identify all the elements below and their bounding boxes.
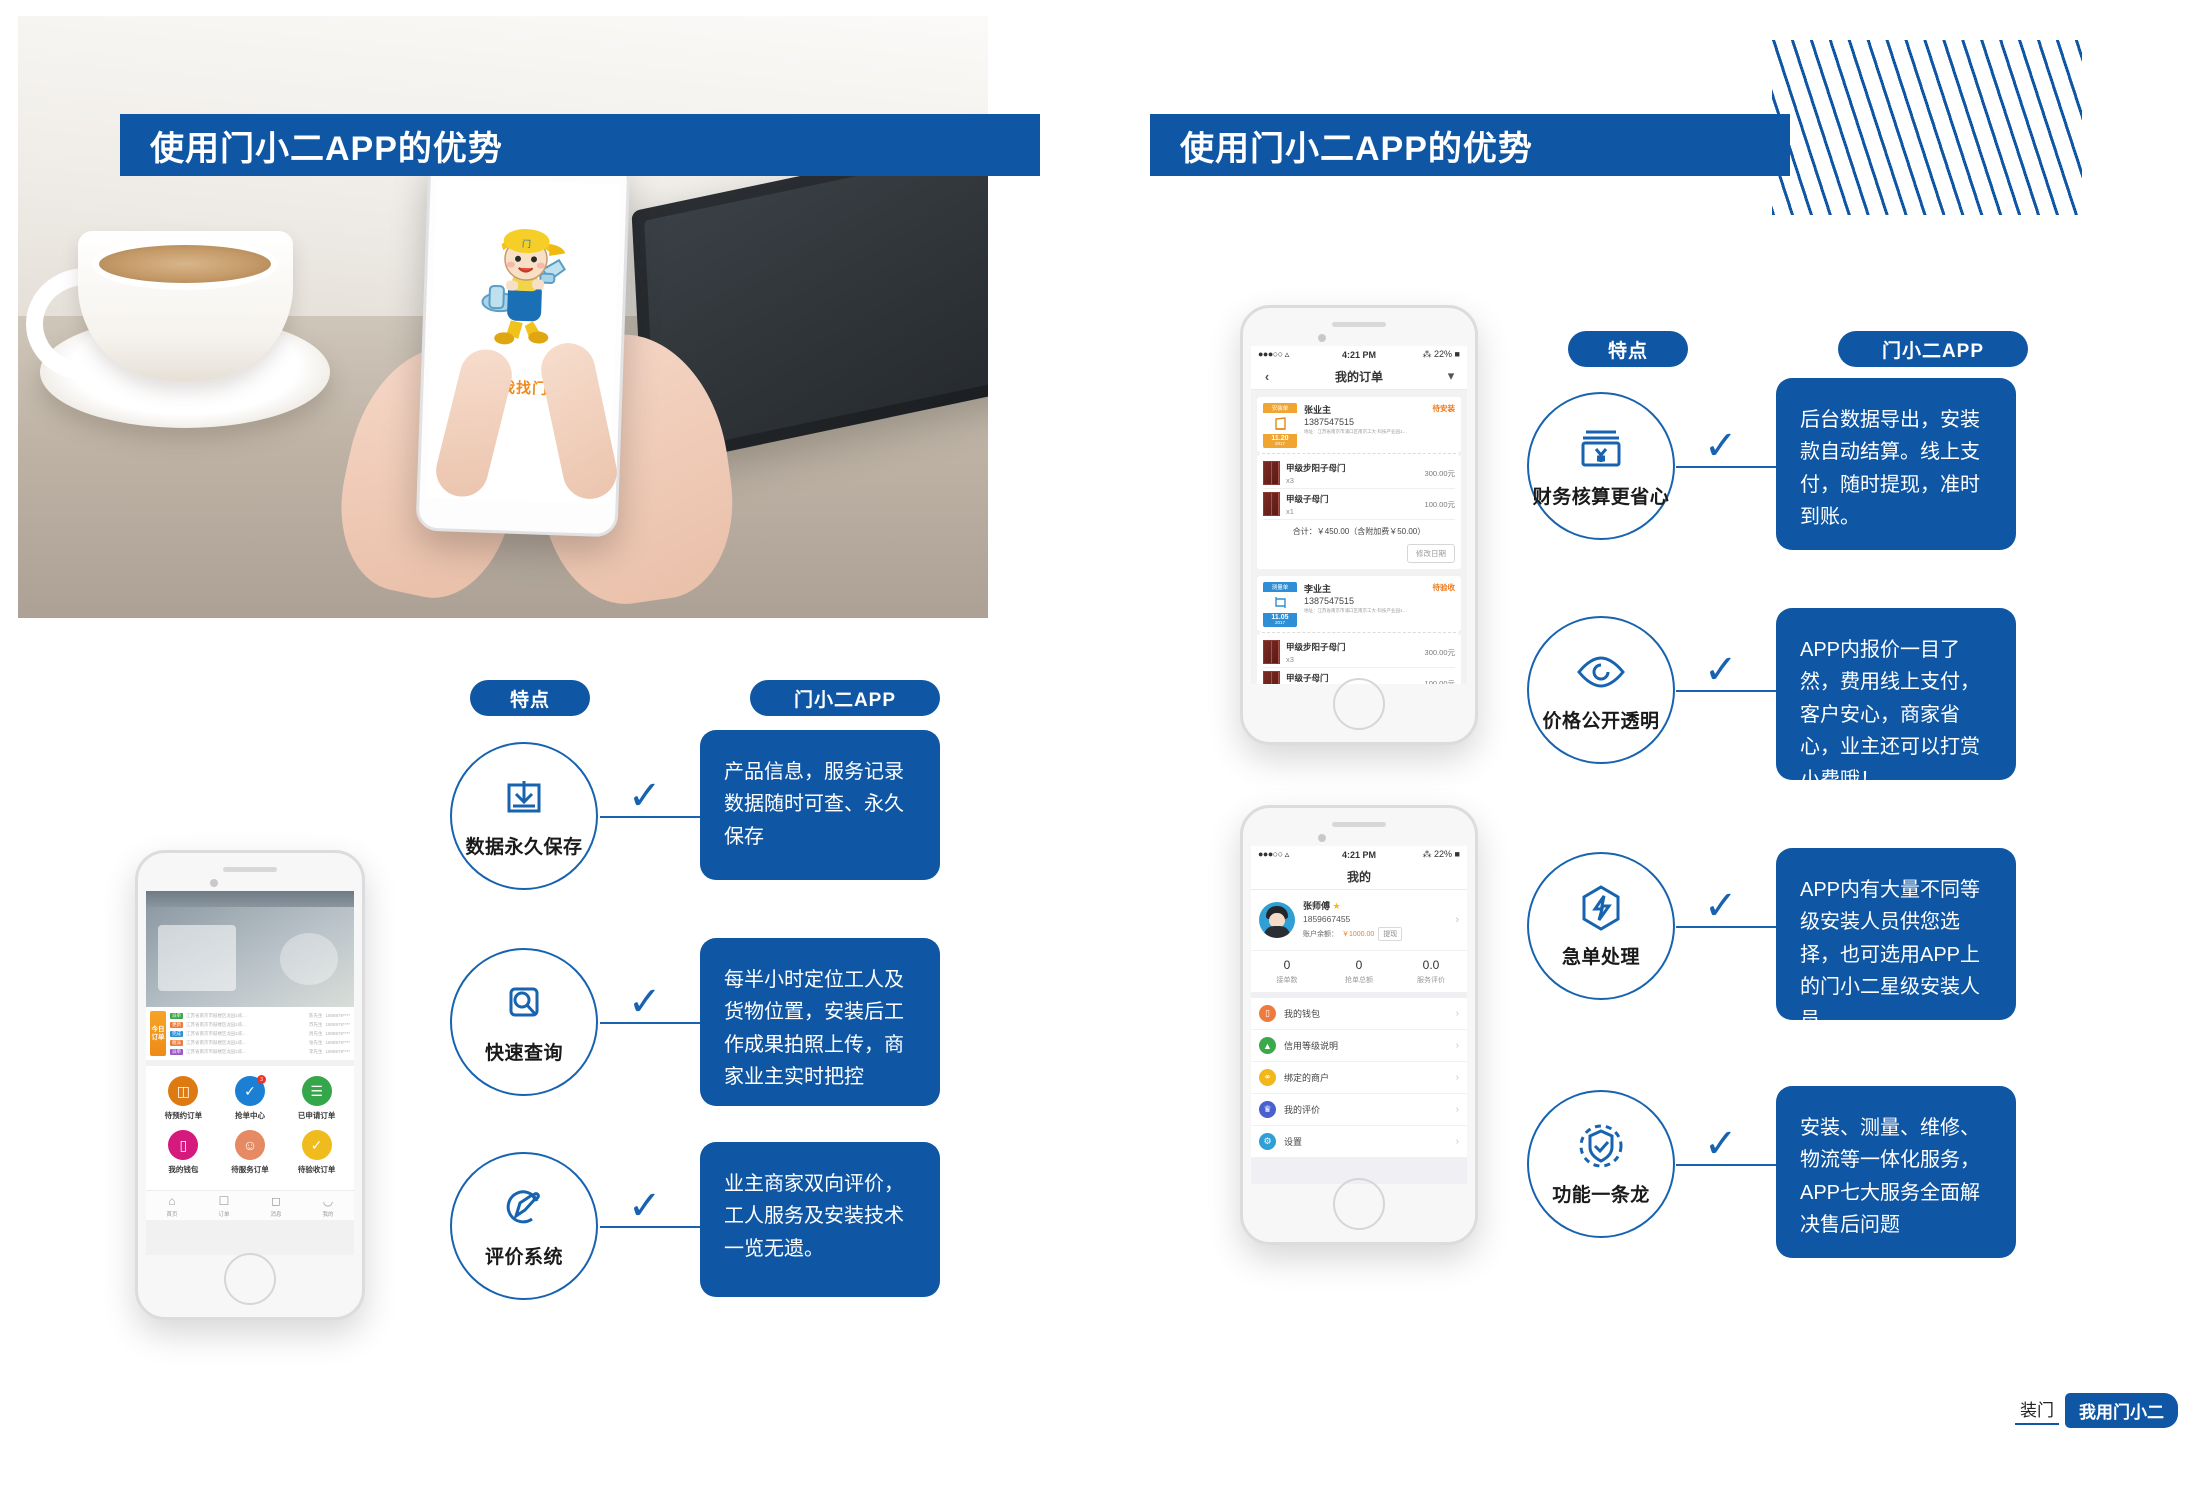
order-phone: 1808979**** bbox=[325, 1049, 350, 1054]
speaker-grille bbox=[1332, 822, 1386, 827]
tab-label: 订单 bbox=[198, 1210, 250, 1218]
feature-circle-label: 数据永久保存 bbox=[465, 832, 582, 859]
stat-value: 0 bbox=[1323, 958, 1395, 972]
product-thumbnail bbox=[1263, 492, 1280, 516]
battery-icon: ■ bbox=[1455, 849, 1460, 859]
feature-text: 安装、测量、维修、物流等一体化服务，APP七大服务全面解决售后问题 bbox=[1800, 1117, 1980, 1236]
stat-item: 0 接单数 bbox=[1251, 958, 1323, 985]
feature-circle-finance[interactable]: 财务核算更省心 bbox=[1527, 392, 1675, 540]
hero-banner-image bbox=[146, 891, 354, 907]
home-button[interactable] bbox=[1333, 1178, 1385, 1230]
product-price: 100.00元 bbox=[1425, 499, 1455, 510]
check-mark-icon: ✓ bbox=[628, 1186, 662, 1226]
chevron-right-icon: › bbox=[1456, 1008, 1459, 1019]
feature-circle-label: 功能一条龙 bbox=[1552, 1180, 1650, 1207]
check-mark-icon: ✓ bbox=[628, 776, 662, 816]
withdraw-button[interactable]: 提现 bbox=[1378, 927, 1402, 941]
pencil-circle-icon bbox=[499, 1180, 549, 1236]
profile-icon: ◡ bbox=[302, 1195, 354, 1207]
left-badge-feature: 特点 bbox=[470, 680, 590, 716]
product-price: 300.00元 bbox=[1425, 647, 1455, 658]
order-card[interactable]: 测量单 11.05 2017 李业主 13875475 bbox=[1257, 576, 1461, 684]
product-price: 100.00元 bbox=[1425, 678, 1455, 684]
status-bar-right: ⁂ 22% ■ bbox=[1393, 849, 1460, 860]
chevron-right-icon: › bbox=[1455, 914, 1459, 926]
profile-navbar: 我的 bbox=[1251, 863, 1467, 890]
feature-text: APP内有大量不同等级安装人员供您选择，也可选用APP上的门小二星级安装人员 bbox=[1800, 879, 1980, 1031]
filter-icon[interactable]: ▾ bbox=[1443, 368, 1459, 384]
stat-label: 接单数 bbox=[1251, 975, 1323, 985]
feature-circle-label: 评价系统 bbox=[485, 1242, 563, 1269]
feature-circle-label: 价格公开透明 bbox=[1542, 706, 1659, 733]
profile-stats: 0 接单数 0 抢单总额 0.0 服务评价 bbox=[1251, 950, 1467, 993]
footer-brand-pill: 我用门小二 bbox=[2065, 1393, 2178, 1428]
stat-value: 0.0 bbox=[1395, 958, 1467, 972]
grid-label: 待验收订单 bbox=[283, 1164, 350, 1175]
balance-value: ￥1000.00 bbox=[1342, 929, 1374, 939]
product-qty: x1 bbox=[1286, 507, 1425, 516]
order-address: 江苏省南京市鼓楼区龙园1栋… bbox=[186, 1049, 306, 1055]
right-badge-app: 门小二APP bbox=[1838, 331, 2028, 367]
today-order-row[interactable]: 催派 江苏省南京市鼓楼区龙园1栋… 张先生 1808979**** bbox=[170, 1038, 350, 1047]
credit-level-icon: ▲ bbox=[1259, 1037, 1276, 1054]
order-type-badge: 安装单 11.20 2017 bbox=[1263, 403, 1297, 448]
product-name: 甲级子母门 bbox=[1286, 493, 1425, 505]
eye-icon bbox=[1574, 644, 1628, 700]
grid-label: 待预约订单 bbox=[150, 1110, 217, 1121]
promo-photo bbox=[146, 907, 354, 1007]
status-bar-left: ●●●○○ ▵ bbox=[1258, 849, 1325, 860]
product-name: 甲级步阳子母门 bbox=[1286, 641, 1425, 653]
today-orders-list: 派单 江苏省南京市鼓楼区龙园1栋… 陈先生 1808979**** 更新 江苏省… bbox=[166, 1011, 350, 1056]
status-bar-left: ●●●○○ ▵ bbox=[1258, 349, 1325, 360]
status-bar: ●●●○○ ▵ 4:21 PM ⁂ 22% ■ bbox=[1251, 346, 1467, 363]
order-address: 江苏省南京市鼓楼区龙园1栋… bbox=[186, 1040, 306, 1046]
order-line-item: 甲级步阳子母门 x3 300.00元 bbox=[1263, 637, 1455, 668]
wallet-icon: ▯ bbox=[1259, 1005, 1276, 1022]
check-mark-icon: ✓ bbox=[1704, 426, 1738, 466]
page-title-right-text: 使用门小二APP的优势 bbox=[1180, 121, 1533, 170]
grid-label: 我的钱包 bbox=[150, 1164, 217, 1175]
product-thumbnail bbox=[1263, 640, 1280, 664]
battery-percent: 22% bbox=[1434, 349, 1452, 359]
search-square-icon bbox=[499, 976, 549, 1032]
home-button[interactable] bbox=[224, 1253, 276, 1305]
feature-text-one-stop: 安装、测量、维修、物流等一体化服务，APP七大服务全面解决售后问题 bbox=[1776, 1086, 2016, 1258]
stat-item: 0 抢单总额 bbox=[1323, 958, 1395, 985]
order-address: 江苏省南京市鼓楼区龙园1栋… bbox=[186, 1022, 306, 1028]
shield-check-icon bbox=[1576, 1118, 1626, 1174]
product-thumbnail bbox=[1263, 671, 1280, 684]
order-tag: 更新 bbox=[170, 1022, 183, 1028]
balance-label: 账户余额： bbox=[1303, 929, 1338, 939]
order-customer: 李先生 bbox=[309, 1049, 323, 1055]
speaker-grille bbox=[223, 867, 277, 872]
product-qty: x3 bbox=[1286, 655, 1425, 664]
profile-user-row[interactable]: 张师傅 ★ 1859667455 账户余额： ￥1000.00 提现 › bbox=[1251, 890, 1467, 950]
order-phone: 1808979**** bbox=[325, 1031, 350, 1036]
feature-text: APP内报价一目了然，费用线上支付，客户安心，商家省心，业主还可以打赏小费哦！ bbox=[1800, 639, 1980, 791]
order-address: 地址：江苏省南京市浦口区南京工大·科技产业园1… bbox=[1304, 608, 1433, 614]
menu-item-my-reviews[interactable]: ♛ 我的评价 › bbox=[1251, 1094, 1467, 1126]
orders-navbar: ‹ 我的订单 ▾ bbox=[1251, 363, 1467, 390]
check-mark-icon: ✓ bbox=[1704, 1124, 1738, 1164]
check-mark-icon: ✓ bbox=[1704, 886, 1738, 926]
order-customer-info: 李业主 1387547515 地址：江苏省南京市浦口区南京工大·科技产业园1… bbox=[1297, 582, 1433, 627]
chevron-right-icon: › bbox=[1456, 1136, 1459, 1147]
stat-item: 0.0 服务评价 bbox=[1395, 958, 1467, 985]
carrier-dots: ●●●○○ bbox=[1258, 849, 1283, 859]
phone-mockup-orders: ●●●○○ ▵ 4:21 PM ⁂ 22% ■ ‹ 我的订单 ▾ 安装单 bbox=[1240, 305, 1478, 745]
wallet-icon: ▯ bbox=[168, 1130, 198, 1160]
left-badge-app-label: 门小二APP bbox=[794, 685, 896, 712]
link-icon: ⚭ bbox=[1259, 1069, 1276, 1086]
menu-item-credit-level[interactable]: ▲ 信用等级说明 › bbox=[1251, 1030, 1467, 1062]
right-badge-app-label: 门小二APP bbox=[1882, 336, 1984, 363]
document-icon: ☰ bbox=[302, 1076, 332, 1106]
today-orders-panel: 今日订单 派单 江苏省南京市鼓楼区龙园1栋… 陈先生 1808979**** 更… bbox=[146, 1007, 354, 1060]
medal-icon: ♛ bbox=[1259, 1101, 1276, 1118]
bottom-tab-bar: ⌂ 首页 ☐ 订单 ◻ 消息 ◡ 我的 bbox=[146, 1190, 354, 1220]
feature-text-price-transparency: APP内报价一目了然，费用线上支付，客户安心，商家省心，业主还可以打赏小费哦！ bbox=[1776, 608, 2016, 780]
modify-date-button[interactable]: 修改日期 bbox=[1407, 544, 1455, 563]
right-badge-feature: 特点 bbox=[1568, 331, 1688, 367]
order-divider bbox=[1257, 453, 1461, 454]
feature-text: 后台数据导出，安装款自动结算。线上支付，随时提现，准时到账。 bbox=[1800, 409, 1980, 528]
feature-circle-data-storage[interactable]: 数据永久保存 bbox=[450, 742, 598, 890]
mendian-worker-mascot-icon: 门 bbox=[468, 223, 582, 357]
front-camera bbox=[1318, 834, 1326, 842]
footer-brand: 装门 我用门小二 bbox=[2015, 1393, 2178, 1428]
clipboard-check-icon: ✓ 3 bbox=[235, 1076, 265, 1106]
front-camera bbox=[210, 879, 218, 887]
order-customer: 张先生 bbox=[309, 1040, 323, 1046]
stat-label: 服务评价 bbox=[1395, 975, 1467, 985]
chevron-right-icon: › bbox=[1456, 1072, 1459, 1083]
today-order-row[interactable]: 派单 江苏省南京市鼓楼区龙园1栋… 陈先生 1808979**** bbox=[170, 1011, 350, 1020]
orders-list: 安装单 11.20 2017 张业主 13875475 bbox=[1251, 390, 1467, 684]
wifi-icon: ▵ bbox=[1285, 849, 1289, 859]
status-time: 4:21 PM bbox=[1325, 850, 1392, 860]
profile-title: 我的 bbox=[1259, 868, 1459, 885]
order-header: 测量单 11.05 2017 李业主 13875475 bbox=[1263, 582, 1455, 627]
product-qty: x3 bbox=[1286, 476, 1425, 485]
left-badge-feature-label: 特点 bbox=[510, 685, 550, 712]
page-title-left: 使用门小二APP的优势 bbox=[120, 114, 1040, 176]
app-home-screen: 今日订单 派单 江苏省南京市鼓楼区龙园1栋… 陈先生 1808979**** 更… bbox=[146, 891, 354, 1255]
menu-label: 我的评价 bbox=[1276, 1103, 1456, 1116]
order-phone: 1808979**** bbox=[325, 1040, 350, 1045]
page-title-right: 使用门小二APP的优势 bbox=[1150, 114, 1790, 176]
phone-mockup-app-home: 今日订单 派单 江苏省南京市鼓楼区龙园1栋… 陈先生 1808979**** 更… bbox=[135, 850, 365, 1320]
menu-label: 信用等级说明 bbox=[1276, 1039, 1456, 1052]
grid-item-pending-acceptance[interactable]: ✓ 待验收订单 bbox=[283, 1130, 350, 1175]
today-order-row[interactable]: 更新 江苏省南京市鼓楼区龙园1栋… 苏先生 1808979**** bbox=[170, 1020, 350, 1029]
order-customer: 陈先生 bbox=[309, 1013, 323, 1019]
bluetooth-icon: ⁂ bbox=[1423, 349, 1432, 359]
order-customer-phone: 1387547515 bbox=[1304, 417, 1433, 427]
order-status-badge: 待验收 bbox=[1433, 582, 1456, 627]
profile-screen: ●●●○○ ▵ 4:21 PM ⁂ 22% ■ 我的 张师傅 ★ 185966 bbox=[1251, 846, 1467, 1184]
feature-circle-label: 快速查询 bbox=[485, 1038, 563, 1065]
order-customer-info: 张业主 1387547515 地址：江苏省南京市浦口区南京工大·科技产业园1… bbox=[1297, 403, 1433, 448]
feature-circle-label: 急单处理 bbox=[1562, 942, 1640, 969]
order-phone: 1808979**** bbox=[325, 1022, 350, 1027]
clipboard-search-icon: ◫ bbox=[168, 1076, 198, 1106]
feature-text: 每半小时定位工人及货物位置，安装后工作成果拍照上传，商家业主实时把控 bbox=[724, 969, 904, 1088]
avatar bbox=[1259, 902, 1295, 938]
wifi-icon: ▵ bbox=[1285, 349, 1289, 359]
menu-item-bound-merchants[interactable]: ⚭ 绑定的商户 › bbox=[1251, 1062, 1467, 1094]
tab-profile[interactable]: ◡ 我的 bbox=[302, 1195, 354, 1218]
feature-circle-one-stop[interactable]: 功能一条龙 bbox=[1527, 1090, 1675, 1238]
order-address: 江苏省南京市鼓楼区龙园1栋… bbox=[186, 1031, 306, 1037]
order-phone: 1808979**** bbox=[325, 1013, 350, 1018]
orders-icon: ☐ bbox=[198, 1195, 250, 1207]
lightning-hexagon-icon bbox=[1578, 880, 1624, 936]
status-time: 4:21 PM bbox=[1325, 350, 1392, 360]
feature-circle-rating-system[interactable]: 评价系统 bbox=[450, 1152, 598, 1300]
product-thumbnail bbox=[1263, 461, 1280, 485]
feature-circle-quick-search[interactable]: 快速查询 bbox=[450, 948, 598, 1096]
order-card[interactable]: 安装单 11.20 2017 张业主 13875475 bbox=[1257, 397, 1461, 569]
download-box-icon bbox=[499, 770, 549, 826]
back-icon[interactable]: ‹ bbox=[1259, 369, 1275, 384]
status-bar-right: ⁂ 22% ■ bbox=[1393, 349, 1460, 360]
svg-text:门: 门 bbox=[522, 238, 531, 250]
grid-label: 已申请订单 bbox=[283, 1110, 350, 1121]
profile-user-phone: 1859667455 bbox=[1303, 914, 1455, 924]
chevron-right-icon: › bbox=[1456, 1104, 1459, 1115]
gear-icon: ⚙ bbox=[1259, 1133, 1276, 1150]
left-badge-app: 门小二APP bbox=[750, 680, 940, 716]
diagonal-hatch-decoration bbox=[1772, 40, 2082, 215]
feature-circle-price-transparency[interactable]: 价格公开透明 bbox=[1527, 616, 1675, 764]
star-icon: ★ bbox=[1333, 901, 1341, 911]
check-mark-icon: ✓ bbox=[1704, 650, 1738, 690]
feature-text: 产品信息，服务记录数据随时可查、永久保存 bbox=[724, 761, 904, 848]
home-feature-grid: ◫ 待预约订单 ✓ 3 抢单中心 ☰ 已申请订单 ▯ 我的钱包 ☺ 待服务订单 bbox=[146, 1066, 354, 1190]
order-total: 合计：￥450.00（含附加费￥50.00） bbox=[1263, 520, 1455, 541]
stat-label: 抢单总额 bbox=[1323, 975, 1395, 985]
menu-label: 绑定的商户 bbox=[1276, 1071, 1456, 1084]
feature-circle-urgent-orders[interactable]: 急单处理 bbox=[1527, 852, 1675, 1000]
product-price: 300.00元 bbox=[1425, 468, 1455, 479]
order-divider bbox=[1257, 632, 1461, 633]
bluetooth-icon: ⁂ bbox=[1423, 849, 1432, 859]
order-address: 江苏省南京市鼓楼区龙园1栋… bbox=[186, 1013, 306, 1019]
tab-home[interactable]: ⌂ 首页 bbox=[146, 1195, 198, 1218]
tab-label: 消息 bbox=[250, 1210, 302, 1218]
grid-item-applied-orders[interactable]: ☰ 已申请订单 bbox=[283, 1076, 350, 1121]
order-customer-phone: 1387547515 bbox=[1304, 596, 1433, 606]
page-title-left-text: 使用门小二APP的优势 bbox=[150, 121, 503, 170]
today-order-row[interactable]: 派单 江苏省南京市鼓楼区龙园1栋… 李先生 1808979**** bbox=[170, 1047, 350, 1056]
order-type-label: 测量单 bbox=[1263, 582, 1297, 592]
order-actions: 修改日期 bbox=[1263, 541, 1455, 563]
tab-label: 首页 bbox=[146, 1210, 198, 1218]
battery-icon: ■ bbox=[1455, 349, 1460, 359]
battery-percent: 22% bbox=[1434, 849, 1452, 859]
product-name: 甲级步阳子母门 bbox=[1286, 462, 1425, 474]
order-type-badge: 测量单 11.05 2017 bbox=[1263, 582, 1297, 627]
hero-coffee-surface bbox=[92, 238, 278, 290]
order-type-label: 安装单 bbox=[1263, 403, 1297, 413]
footer-brand-prefix: 装门 bbox=[2015, 1396, 2059, 1425]
profile-user-name: 张师傅 ★ bbox=[1303, 899, 1455, 912]
order-tag: 完成 bbox=[170, 1031, 183, 1037]
order-line-item: 甲级步阳子母门 x3 300.00元 bbox=[1263, 458, 1455, 489]
home-icon: ⌂ bbox=[146, 1195, 198, 1207]
stat-value: 0 bbox=[1251, 958, 1323, 972]
today-orders-tab[interactable]: 今日订单 bbox=[150, 1011, 166, 1056]
grid-label: 抢单中心 bbox=[217, 1110, 284, 1121]
order-customer: 周先生 bbox=[309, 1031, 323, 1037]
feature-text: 业主商家双向评价，工人服务及安装技术一览无遗。 bbox=[724, 1173, 904, 1260]
grid-item-my-wallet[interactable]: ▯ 我的钱包 bbox=[150, 1130, 217, 1175]
status-bar: ●●●○○ ▵ 4:21 PM ⁂ 22% ■ bbox=[1251, 846, 1467, 863]
feature-circle-label: 财务核算更省心 bbox=[1533, 482, 1670, 509]
notification-badge: 3 bbox=[257, 1075, 266, 1084]
order-header: 安装单 11.20 2017 张业主 13875475 bbox=[1263, 403, 1455, 448]
tab-orders[interactable]: ☐ 订单 bbox=[198, 1195, 250, 1218]
orders-title: 我的订单 bbox=[1275, 368, 1443, 385]
feature-text-quick-search: 每半小时定位工人及货物位置，安装后工作成果拍照上传，商家业主实时把控 bbox=[700, 938, 940, 1106]
order-date: 11.20 2017 bbox=[1263, 434, 1297, 448]
grid-item-grab-center[interactable]: ✓ 3 抢单中心 bbox=[217, 1076, 284, 1121]
orders-screen: ●●●○○ ▵ 4:21 PM ⁂ 22% ■ ‹ 我的订单 ▾ 安装单 bbox=[1251, 346, 1467, 684]
worker-icon: ☺ bbox=[235, 1130, 265, 1160]
grid-label: 待服务订单 bbox=[217, 1164, 284, 1175]
order-customer-name: 张业主 bbox=[1304, 403, 1433, 416]
grid-item-pending-service[interactable]: ☺ 待服务订单 bbox=[217, 1130, 284, 1175]
menu-item-settings[interactable]: ⚙ 设置 › bbox=[1251, 1126, 1467, 1158]
tab-label: 我的 bbox=[302, 1210, 354, 1218]
order-line-item: 甲级子母门 x1 100.00元 bbox=[1263, 489, 1455, 520]
menu-item-wallet[interactable]: ▯ 我的钱包 › bbox=[1251, 998, 1467, 1030]
order-customer: 苏先生 bbox=[309, 1022, 323, 1028]
menu-label: 我的钱包 bbox=[1276, 1007, 1456, 1020]
door-icon bbox=[1263, 413, 1297, 434]
grid-item-pending-appointment[interactable]: ◫ 待预约订单 bbox=[150, 1076, 217, 1121]
carrier-dots: ●●●○○ bbox=[1258, 349, 1283, 359]
feature-text-finance: 后台数据导出，安装款自动结算。线上支付，随时提现，准时到账。 bbox=[1776, 378, 2016, 550]
measure-icon bbox=[1263, 592, 1297, 613]
home-button[interactable] bbox=[1333, 678, 1385, 730]
order-tag: 催派 bbox=[170, 1040, 183, 1046]
today-order-row[interactable]: 完成 江苏省南京市鼓楼区龙园1栋… 周先生 1808979**** bbox=[170, 1029, 350, 1038]
front-camera bbox=[1318, 334, 1326, 342]
yen-card-icon bbox=[1575, 420, 1627, 476]
message-icon: ◻ bbox=[250, 1195, 302, 1207]
order-tag: 派单 bbox=[170, 1013, 183, 1019]
profile-balance-row: 账户余额： ￥1000.00 提现 bbox=[1303, 927, 1455, 941]
order-tag: 派单 bbox=[170, 1049, 183, 1055]
feature-text-urgent-orders: APP内有大量不同等级安装人员供您选择，也可选用APP上的门小二星级安装人员 bbox=[1776, 848, 2016, 1020]
order-date: 11.05 2017 bbox=[1263, 613, 1297, 627]
order-status-badge: 待安装 bbox=[1433, 403, 1456, 448]
order-customer-name: 李业主 bbox=[1304, 582, 1433, 595]
right-badge-feature-label: 特点 bbox=[1608, 336, 1648, 363]
feature-text-data-storage: 产品信息，服务记录数据随时可查、永久保存 bbox=[700, 730, 940, 880]
speaker-grille bbox=[1332, 322, 1386, 327]
tab-messages[interactable]: ◻ 消息 bbox=[250, 1195, 302, 1218]
check-mark-icon: ✓ bbox=[628, 982, 662, 1022]
menu-label: 设置 bbox=[1276, 1135, 1456, 1148]
shield-check-icon: ✓ bbox=[302, 1130, 332, 1160]
hero-photo: 门 装门 我找门小二 bbox=[18, 16, 988, 618]
phone-mockup-profile: ●●●○○ ▵ 4:21 PM ⁂ 22% ■ 我的 张师傅 ★ 185966 bbox=[1240, 805, 1478, 1245]
order-address: 地址：江苏省南京市浦口区南京工大·科技产业园1… bbox=[1304, 429, 1433, 435]
feature-text-rating-system: 业主商家双向评价，工人服务及安装技术一览无遗。 bbox=[700, 1142, 940, 1297]
chevron-right-icon: › bbox=[1456, 1040, 1459, 1051]
